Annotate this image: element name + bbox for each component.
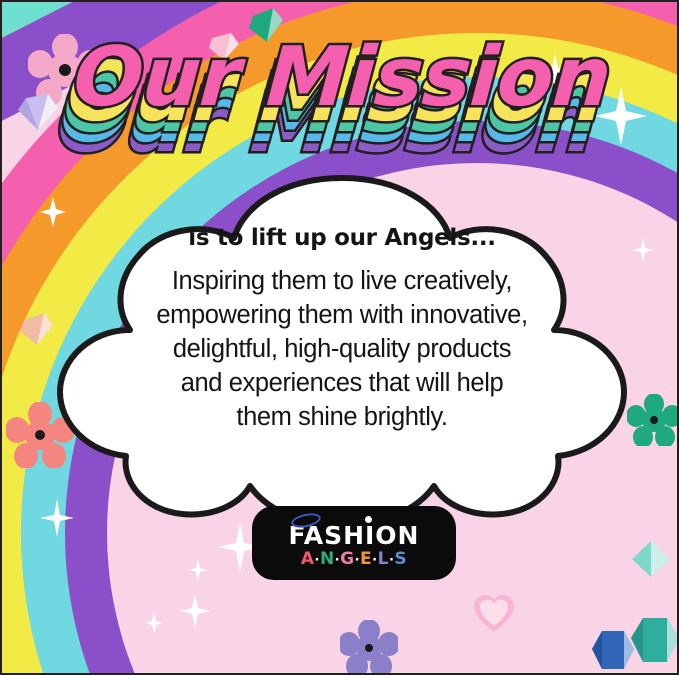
logo-angels-letter-l: L <box>378 549 389 569</box>
mission-poster: Our Mission Our Mission Our Mission Our … <box>0 0 679 675</box>
mission-body: Inspiring them to live creatively, empow… <box>82 264 602 434</box>
flower-bottom-purple-icon <box>340 620 398 675</box>
logo-wordmark-fashion: FASHION <box>289 523 420 548</box>
logo-angels-letter-s: S <box>394 549 407 569</box>
gem-top-pink-icon <box>207 30 241 62</box>
body-line: delightful, high-quality products <box>82 332 602 366</box>
fashion-angels-logo: FASHION A·N·G·E·L·S <box>252 506 456 580</box>
logo-angels-letter-a: A <box>301 549 315 569</box>
gem-top-center-green-icon <box>247 6 285 44</box>
gem-top-left-lavender-icon <box>16 90 60 134</box>
body-line: empowering them with innovative, <box>82 298 602 332</box>
body-line: and experiences that will help <box>82 366 602 400</box>
logo-angels-letter-e: E <box>360 549 372 569</box>
logo-angels-letter-n: N <box>320 549 335 569</box>
body-line: them shine brightly. <box>82 400 602 434</box>
heart-bottom-right-pink-icon <box>472 594 516 634</box>
mission-headline: is to lift up our Angels... <box>82 224 602 252</box>
gem-right-mint-icon <box>630 539 672 579</box>
logo-angels-letter-g: G <box>340 549 354 569</box>
body-line: Inspiring them to live creatively, <box>82 264 602 298</box>
logo-wordmark-angels: A·N·G·E·L·S <box>301 550 407 570</box>
gem-bottom-right-teal-icon <box>629 614 679 666</box>
cloud-text-block: is to lift up our Angels... Inspiring th… <box>82 224 602 434</box>
